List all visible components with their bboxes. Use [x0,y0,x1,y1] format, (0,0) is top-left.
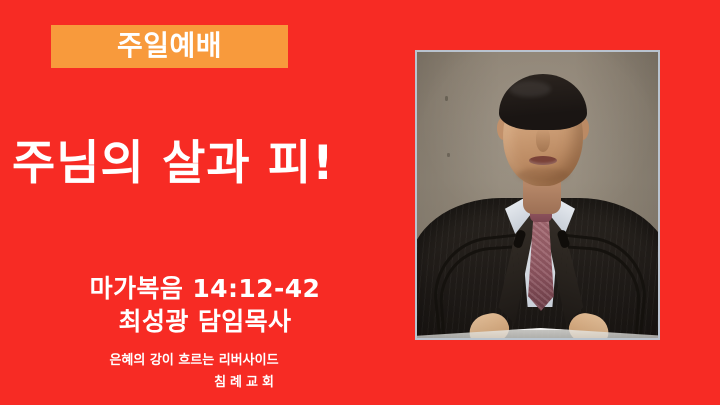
preacher-name: 최성광 담임목사 [0,305,410,338]
wall-mark-icon [447,153,450,157]
podium-engraving-icon [469,334,619,338]
text-column: 주일예배 주님의 살과 피! 마가복음 14:12-42 최성광 담임목사 은혜… [0,0,410,405]
mouth [529,156,557,165]
scripture-reference: 마가복음 14:12-42 [0,272,410,305]
service-type-label: 주일예배 [117,32,222,60]
wall-mark-icon [445,96,448,101]
sermon-slide: 주일예배 주님의 살과 피! 마가복음 14:12-42 최성광 담임목사 은혜… [0,0,720,405]
preacher-photo-frame [415,50,660,340]
preacher-photo [417,52,658,338]
sermon-title: 주님의 살과 피! [12,138,412,191]
service-type-badge: 주일예배 [51,25,288,68]
church-tagline: 은혜의 강이 흐르는 리버사이드 [0,352,388,370]
chin-shadow [517,168,569,182]
nose [536,128,550,152]
church-name: 침례교회 [0,374,388,392]
